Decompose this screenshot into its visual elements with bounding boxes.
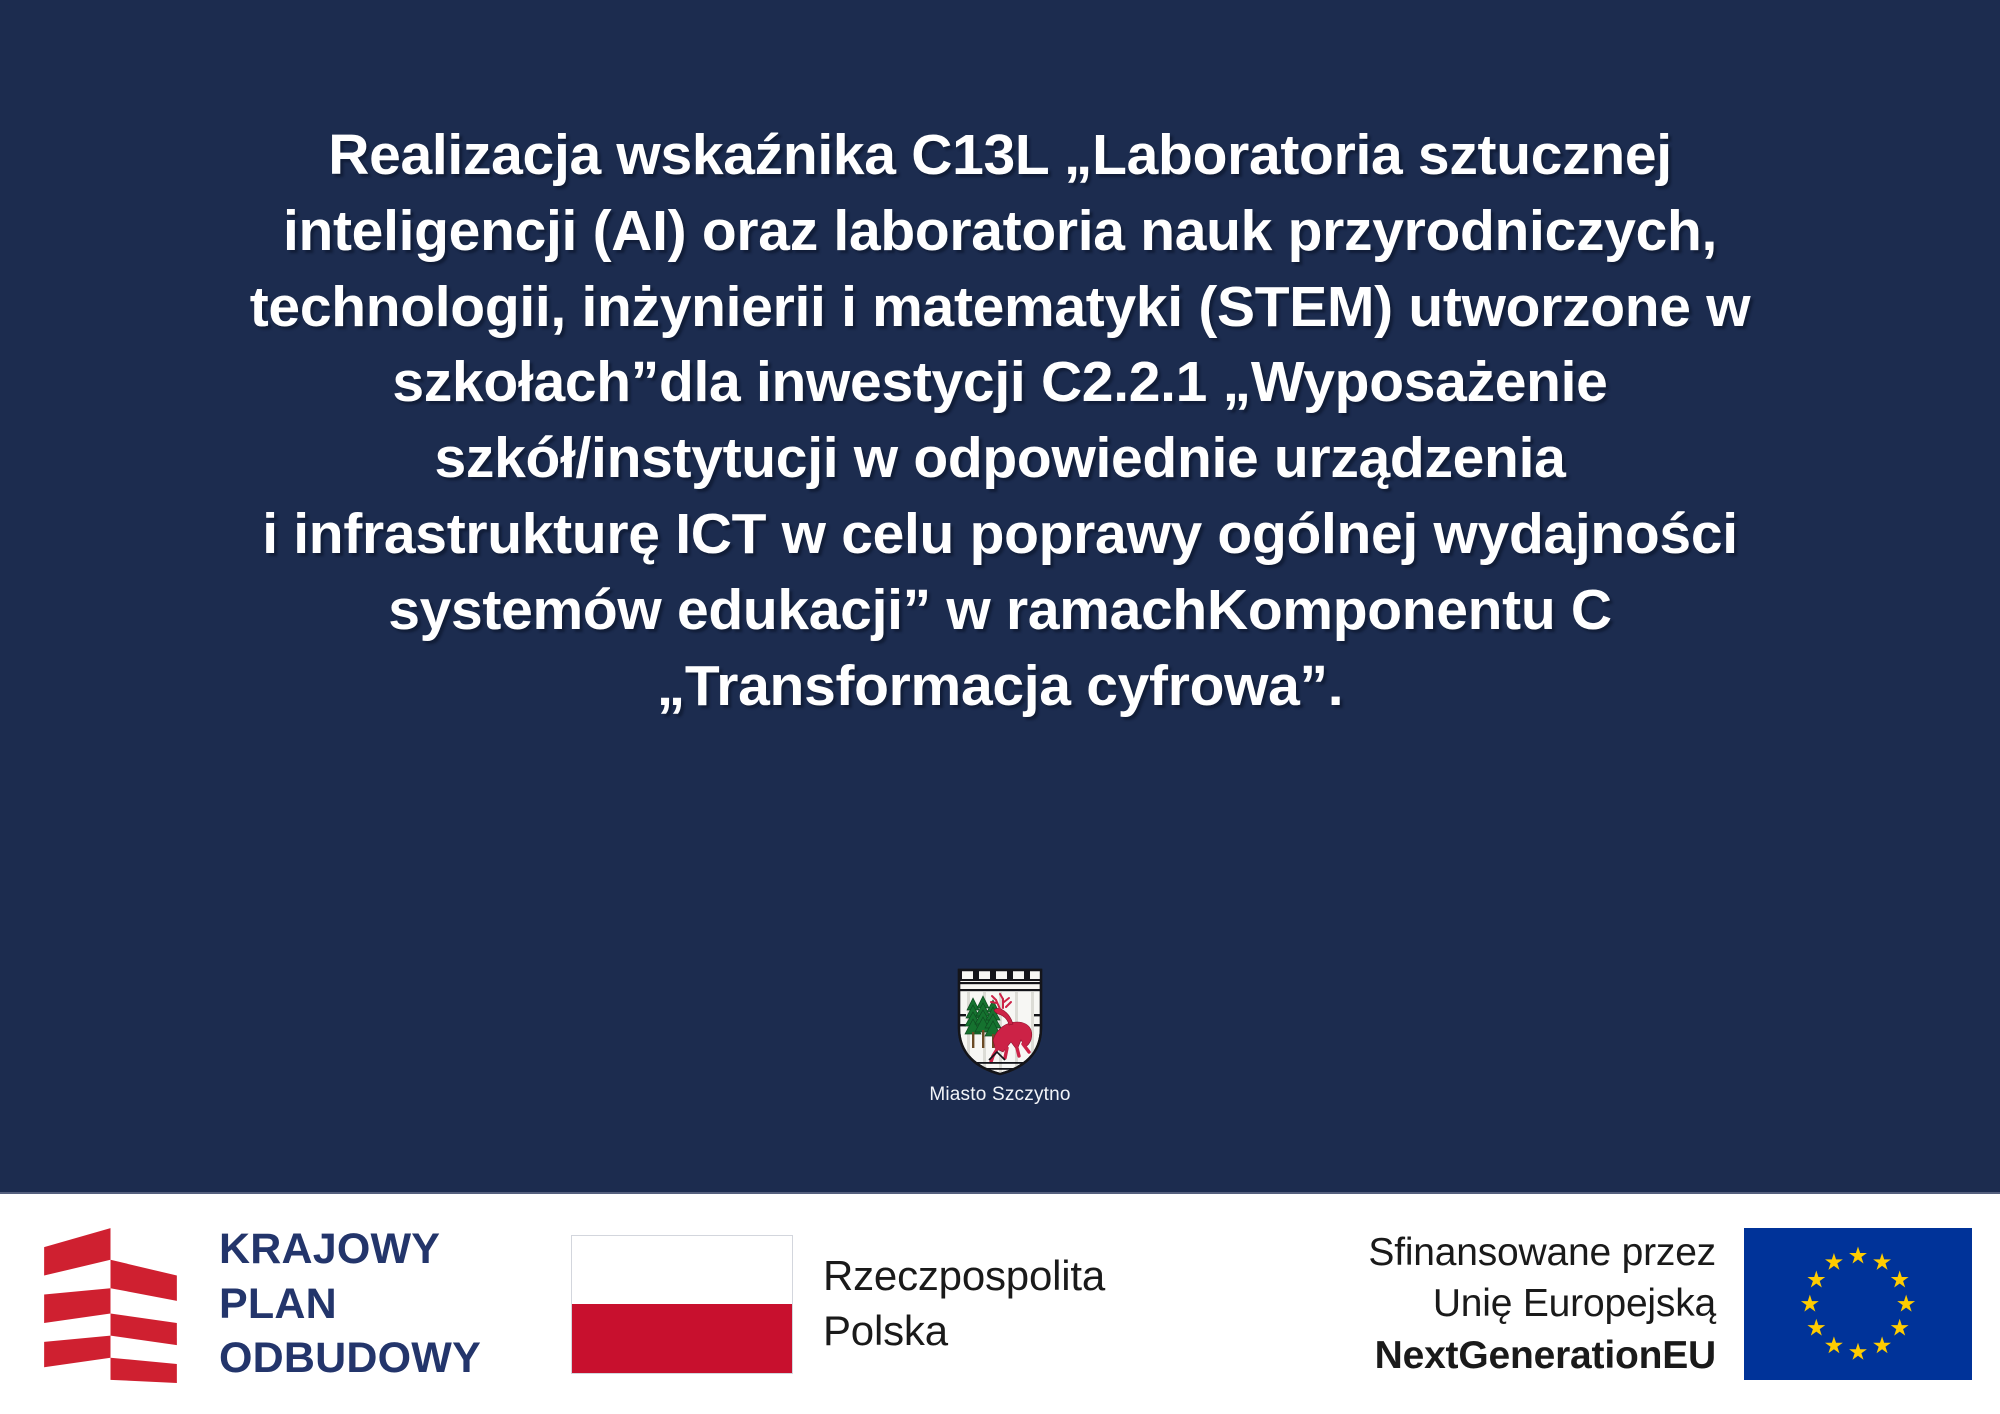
flag-band-red — [572, 1304, 792, 1373]
poland-line-1: Rzeczpospolita — [823, 1249, 1105, 1304]
eu-logo-block: Sfinansowane przez Unię Europejską NextG… — [1368, 1194, 1972, 1414]
poland-line-2: Polska — [823, 1304, 1105, 1359]
szczytno-coat-of-arms-icon — [947, 962, 1053, 1080]
poster-page: Realizacja wskaźnika C13L „Laboratoria s… — [0, 0, 2000, 1414]
kpo-wordmark: KRAJOWY PLAN ODBUDOWY — [219, 1222, 481, 1386]
poland-logo-block: Rzeczpospolita Polska — [571, 1194, 1105, 1414]
page-title: Realizacja wskaźnika C13L „Laboratoria s… — [60, 118, 1940, 724]
kpo-logo-block: KRAJOWY PLAN ODBUDOWY — [28, 1194, 481, 1414]
flag-band-white — [572, 1236, 792, 1305]
eu-line-1: Sfinansowane przez — [1368, 1227, 1716, 1278]
krajowy-plan-odbudowy-icon — [28, 1225, 193, 1383]
hero-panel: Realizacja wskaźnika C13L „Laboratoria s… — [0, 0, 2000, 1192]
eu-line-2: Unię Europejską — [1368, 1278, 1716, 1329]
crest-caption: Miasto Szczytno — [0, 1084, 2000, 1106]
poland-wordmark: Rzeczpospolita Polska — [823, 1249, 1105, 1358]
crest-block: Miasto Szczytno — [0, 962, 2000, 1106]
eu-line-3: NextGenerationEU — [1368, 1330, 1716, 1381]
european-union-flag-icon — [1744, 1228, 1972, 1380]
funding-logo-bar: KRAJOWY PLAN ODBUDOWY Rzeczpospolita Pol… — [0, 1192, 2000, 1414]
kpo-line-1: KRAJOWY — [219, 1222, 481, 1277]
kpo-line-3: ODBUDOWY — [219, 1331, 481, 1386]
kpo-line-2: PLAN — [219, 1277, 481, 1332]
poland-flag-icon — [571, 1235, 793, 1374]
eu-wordmark: Sfinansowane przez Unię Europejską NextG… — [1368, 1227, 1716, 1381]
